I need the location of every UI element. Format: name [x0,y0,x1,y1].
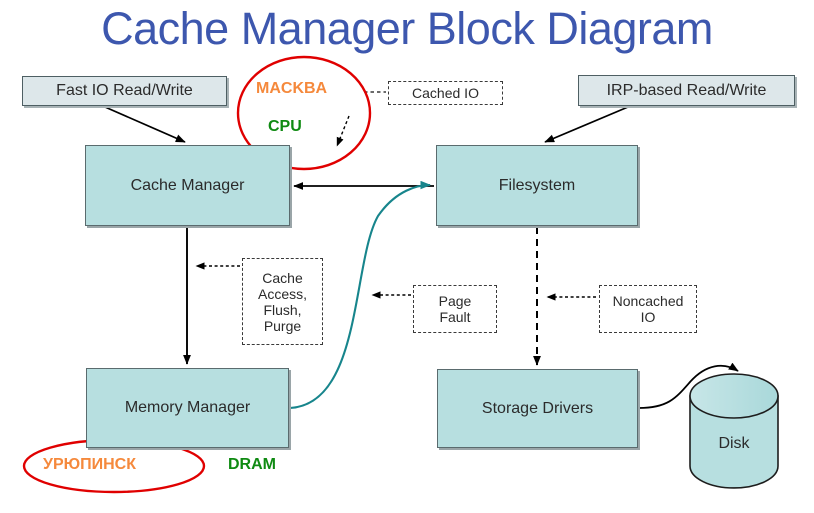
box-filesystem-label: Filesystem [499,177,575,195]
disk-cylinder [690,374,778,488]
cache-access-line-4: Purge [264,318,301,334]
disk-label: Disk [690,435,778,453]
box-page-fault[interactable]: Page Fault [413,285,497,333]
noncached-io-line-2: IO [641,309,656,325]
box-cache-manager-label: Cache Manager [131,177,245,195]
box-fast-io-label: Fast IO Read/Write [56,82,193,100]
annotation-uryupinsk: УРЮПИНСК [43,456,136,474]
annotation-moscow: MACKBA [256,80,327,98]
annotation-cpu: CPU [268,118,302,136]
box-memory-manager[interactable]: Memory Manager [86,368,289,448]
cache-access-line-2: Access, [258,286,307,302]
cache-access-line-1: Cache [262,270,302,286]
page-fault-line-2: Fault [439,309,470,325]
arrow-irp-to-filesystem [545,107,628,142]
box-cache-manager[interactable]: Cache Manager [85,145,290,226]
box-cached-io-label: Cached IO [412,85,479,101]
arrow-fastio-to-cachemanager [105,107,185,142]
arrow-cached-io-to-cachemanager [337,116,349,146]
box-storage-drivers-label: Storage Drivers [482,400,593,418]
diagram-canvas: Cache Manager Block Diagram [0,0,814,513]
box-memory-manager-label: Memory Manager [125,399,250,417]
box-fast-io-read-write[interactable]: Fast IO Read/Write [22,76,227,106]
noncached-io-line-1: Noncached [613,293,684,309]
box-cache-access-flush-purge[interactable]: Cache Access, Flush, Purge [242,258,323,345]
page-fault-line-1: Page [439,293,472,309]
box-irp-based-read-write[interactable]: IRP-based Read/Write [578,75,795,106]
cache-access-line-3: Flush, [263,302,301,318]
annotation-dram: DRAM [228,456,276,474]
box-cached-io[interactable]: Cached IO [388,81,503,105]
box-filesystem[interactable]: Filesystem [436,145,638,226]
box-noncached-io[interactable]: Noncached IO [599,285,697,333]
box-irp-label: IRP-based Read/Write [607,82,767,100]
box-storage-drivers[interactable]: Storage Drivers [437,369,638,448]
